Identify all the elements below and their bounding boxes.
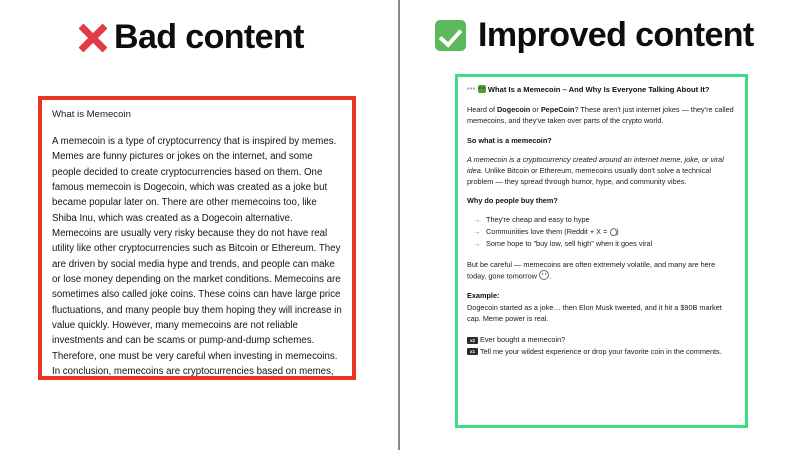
- intro-bold-pepecoin: PepeCoin: [541, 105, 575, 114]
- warning-text: But be careful — memecoins are often ext…: [467, 260, 715, 281]
- bad-content-pane: Bad content What is Memecoin A memecoin …: [0, 0, 398, 450]
- example-block: Example: Dogecoin started as a joke… the…: [467, 291, 736, 325]
- intro-mid: or: [530, 105, 541, 114]
- bad-content-card: What is Memecoin A memecoin is a type of…: [38, 96, 356, 380]
- x-mark-icon: [78, 23, 108, 53]
- definition-rest: . Unlike Bitcoin or Ethereum, memecoins …: [467, 166, 711, 186]
- definition-paragraph: A memecoin is a cryptocurrency created a…: [467, 154, 736, 188]
- green-check-icon: [435, 20, 466, 51]
- example-label: Example:: [467, 291, 736, 302]
- post-headline-text: What Is a Memecoin – And Why Is Everyone…: [488, 85, 710, 94]
- question-heading-1: So what is a memecoin?: [467, 136, 736, 147]
- frog-emoji: [478, 85, 486, 93]
- improved-content-card: •••What Is a Memecoin – And Why Is Every…: [455, 74, 748, 428]
- pointing-down-badge-icon: x1: [467, 348, 478, 355]
- arrow-icon: →: [473, 226, 481, 238]
- improved-content-heading-label: Improved content: [478, 16, 754, 55]
- intro-paragraph: Heard of Dogecoin or PepeCoin? These are…: [467, 104, 736, 127]
- improved-content-heading: Improved content: [435, 16, 754, 55]
- arrow-icon: →: [473, 238, 481, 250]
- cta-line-2: x1Tell me your wildest experience or dro…: [467, 346, 736, 358]
- example-text: Dogecoin started as a joke… then Elon Mu…: [467, 302, 736, 325]
- speech-balloon-badge-icon: x2: [467, 337, 478, 344]
- question-heading-2: Why do people buy them?: [467, 196, 736, 207]
- cta-line-1-label: Ever bought a memecoin?: [480, 335, 565, 344]
- list-item: →They're cheap and easy to hype: [473, 214, 736, 226]
- arrow-icon: →: [473, 214, 481, 226]
- bad-card-body: A memecoin is a type of cryptocurrency t…: [52, 134, 342, 380]
- intro-bold-dogecoin: Dogecoin: [497, 105, 530, 114]
- improved-content-pane: Improved content •••What Is a Memecoin –…: [400, 0, 800, 450]
- reasons-list: →They're cheap and easy to hype →Communi…: [467, 214, 736, 249]
- list-item-label: Some hope to "buy low, sell high" when i…: [486, 239, 652, 248]
- intro-prefix: Heard of: [467, 105, 497, 114]
- bad-card-title: What is Memecoin: [52, 109, 342, 122]
- list-item: →Communities love them (Reddit + X = ): [473, 226, 736, 238]
- list-item-label: They're cheap and easy to hype: [486, 215, 590, 224]
- bad-content-heading: Bad content: [78, 18, 304, 57]
- post-headline: •••What Is a Memecoin – And Why Is Every…: [467, 84, 736, 95]
- list-item-label: Communities love them (Reddit + X =: [486, 227, 609, 236]
- cta-line-2-label: Tell me your wildest experience or drop …: [480, 347, 722, 356]
- warning-suffix: .: [549, 272, 551, 281]
- cta-line-1: x2Ever bought a memecoin?: [467, 334, 736, 346]
- fire-emoji: [609, 227, 616, 235]
- list-item: →Some hope to "buy low, sell high" when …: [473, 238, 736, 250]
- ellipsis-icon: •••: [467, 86, 476, 93]
- comparison-stage: Bad content What is Memecoin A memecoin …: [0, 0, 800, 450]
- warning-paragraph: But be careful — memecoins are often ext…: [467, 259, 736, 282]
- skull-emoji: [539, 270, 549, 280]
- bad-content-heading-label: Bad content: [114, 18, 304, 57]
